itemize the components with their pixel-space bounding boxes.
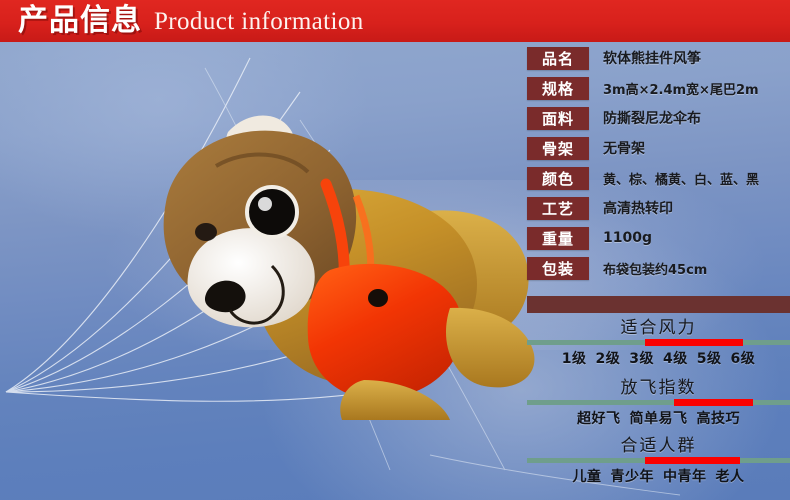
table-row: 面料 防撕裂尼龙伞布	[527, 106, 785, 130]
rating-options: 1级 2级 3级 4级 5级 6级	[527, 348, 790, 368]
spec-value: 高清热转印	[603, 198, 673, 218]
page-title-en: Product information	[154, 9, 364, 34]
spec-value: 黄、棕、橘黄、白、蓝、黑	[603, 169, 759, 188]
spec-value: 1100g	[603, 230, 652, 246]
table-row: 骨架 无骨架	[527, 136, 785, 160]
table-row: 规格 3m高×2.4m宽×尾巴2m	[527, 76, 785, 100]
rating-wind: 适合风力 1级 2级 3级 4级 5级 6级	[527, 318, 790, 368]
teddy-bear-kite	[120, 80, 540, 420]
rating-highlight	[645, 339, 742, 346]
header-band: 产品信息 Product information	[0, 0, 790, 42]
table-row: 品名 软体熊挂件风筝	[527, 46, 785, 70]
rating-option[interactable]: 高技巧	[697, 408, 741, 428]
section-divider	[527, 296, 790, 313]
spec-key: 工艺	[527, 197, 589, 220]
table-row: 包装 布袋包装约45cm	[527, 256, 785, 280]
spec-key: 品名	[527, 47, 589, 70]
spec-key: 面料	[527, 107, 589, 130]
rating-highlight	[674, 399, 753, 406]
rating-title: 放飞指数	[527, 378, 790, 398]
rating-title: 合适人群	[527, 436, 790, 456]
page-title-cn: 产品信息	[18, 6, 142, 36]
spec-key: 重量	[527, 227, 589, 250]
rating-option[interactable]: 简单易飞	[630, 408, 688, 428]
rating-title: 适合风力	[527, 318, 790, 338]
rating-track	[527, 340, 790, 345]
spec-key: 颜色	[527, 167, 589, 190]
rating-option[interactable]: 中青年	[663, 466, 707, 486]
spec-value: 无骨架	[603, 138, 645, 158]
spec-table: 品名 软体熊挂件风筝 规格 3m高×2.4m宽×尾巴2m 面料 防撕裂尼龙伞布 …	[527, 46, 785, 286]
rating-option[interactable]: 儿童	[573, 466, 602, 486]
rating-track	[527, 400, 790, 405]
rating-options: 儿童 青少年 中青年 老人	[527, 466, 790, 486]
table-row: 工艺 高清热转印	[527, 196, 785, 220]
rating-options: 超好飞 简单易飞 高技巧	[527, 408, 790, 428]
rating-highlight	[645, 457, 740, 464]
rating-option[interactable]: 超好飞	[577, 408, 621, 428]
rating-option[interactable]: 2级	[596, 348, 621, 368]
rating-option[interactable]: 3级	[629, 348, 654, 368]
spec-key: 包装	[527, 257, 589, 280]
rating-option[interactable]: 1级	[562, 348, 587, 368]
spec-key: 规格	[527, 77, 589, 100]
rating-option[interactable]: 4级	[663, 348, 688, 368]
header-inner: 产品信息 Product information	[18, 0, 364, 42]
rating-option[interactable]: 老人	[716, 466, 745, 486]
rating-track	[527, 458, 790, 463]
table-row: 颜色 黄、棕、橘黄、白、蓝、黑	[527, 166, 785, 190]
spec-value: 布袋包装约45cm	[603, 259, 707, 278]
rating-audience: 合适人群 儿童 青少年 中青年 老人	[527, 436, 790, 486]
rating-option[interactable]: 5级	[697, 348, 722, 368]
rating-option[interactable]: 青少年	[611, 466, 655, 486]
table-row: 重量 1100g	[527, 226, 785, 250]
spec-value: 软体熊挂件风筝	[603, 48, 701, 68]
rating-flying-index: 放飞指数 超好飞 简单易飞 高技巧	[527, 378, 790, 428]
spec-key: 骨架	[527, 137, 589, 160]
spec-value: 防撕裂尼龙伞布	[603, 108, 701, 128]
product-info-banner: 产品信息 Product information 品名 软体熊挂件风筝 规格 3…	[0, 0, 790, 500]
rating-option[interactable]: 6级	[731, 348, 756, 368]
spec-value: 3m高×2.4m宽×尾巴2m	[603, 79, 759, 98]
